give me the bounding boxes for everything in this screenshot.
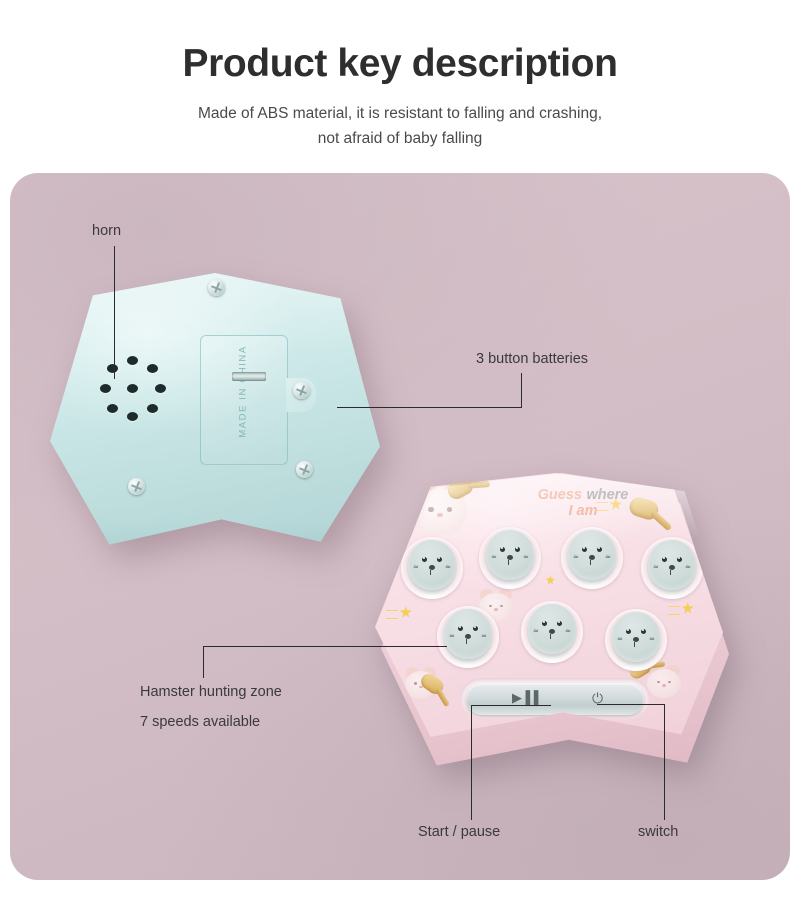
callout-label-start-pause: Start / pause (418, 824, 500, 840)
leader-line-batteries-vertical (521, 373, 522, 408)
speaker-hole (100, 384, 111, 393)
callout-label-horn: horn (92, 223, 121, 239)
page-subtitle: Made of ABS material, it is resistant to… (0, 101, 800, 151)
speaker-hole (147, 364, 158, 373)
speaker-hole (127, 412, 138, 421)
speaker-hole (127, 356, 138, 365)
leader-line-batteries-horizontal (337, 407, 522, 408)
speaker-grille (100, 356, 166, 422)
leader-line-hunting-zone-horizontal (203, 646, 447, 647)
battery-compartment-door: MADE IN CHINA (200, 335, 288, 465)
device-blue-underside: MADE IN CHINA (50, 273, 380, 553)
leader-line-switch-vertical (664, 704, 665, 820)
callout-label-hunting-zone-line1: Hamster hunting zone (140, 684, 282, 700)
speaker-hole (107, 404, 118, 413)
leader-line-switch-horizontal (597, 704, 665, 705)
speaker-hole (147, 404, 158, 413)
callout-label-batteries: 3 button batteries (476, 351, 588, 367)
device-pink-front: Guess where I am (375, 473, 735, 778)
speaker-hole-center (127, 384, 138, 393)
leader-line-hunting-zone-vertical (203, 646, 204, 678)
callout-label-switch: switch (638, 824, 678, 840)
screw (208, 279, 225, 296)
made-in-china-text: MADE IN CHINA (238, 334, 249, 450)
leader-line-horn (114, 246, 115, 379)
header: Product key description Made of ABS mate… (0, 0, 800, 173)
page-title: Product key description (0, 42, 800, 86)
product-photo-panel: MADE IN CHINA Guess where I am (10, 173, 790, 880)
leader-line-start-pause-vertical (471, 705, 472, 820)
speaker-hole (107, 364, 118, 373)
callout-label-hunting-zone-line2: 7 speeds available (140, 714, 260, 730)
subtitle-line-1: Made of ABS material, it is resistant to… (0, 101, 800, 126)
pink-shell-rim (375, 473, 735, 778)
subtitle-line-2: not afraid of baby falling (0, 126, 800, 151)
battery-door-latch (232, 372, 266, 381)
leader-line-start-pause-horizontal (471, 705, 551, 706)
screw (296, 461, 313, 478)
screw-battery (293, 382, 310, 399)
screw (128, 478, 145, 495)
speaker-hole (155, 384, 166, 393)
